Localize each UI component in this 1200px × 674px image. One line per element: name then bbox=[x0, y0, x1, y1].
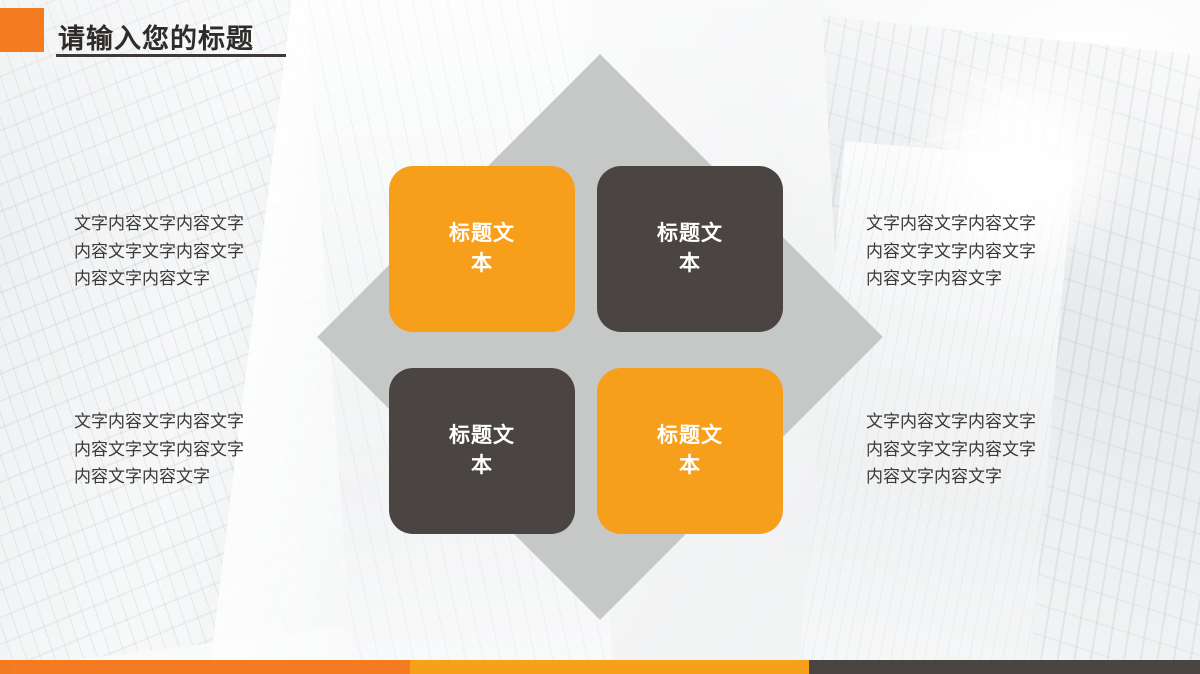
tile-group: 标题文本 标题文本 标题文本 标题文本 bbox=[389, 166, 783, 534]
footer-segment-orange bbox=[10, 660, 410, 674]
footer-bar bbox=[0, 660, 1200, 674]
tile-bottom-right[interactable]: 标题文本 bbox=[597, 368, 783, 534]
tile-top-right[interactable]: 标题文本 bbox=[597, 166, 783, 332]
slide: 请输入您的标题 标题文本 标题文本 标题文本 标题文本 文字内容文字内容文字 内… bbox=[0, 0, 1200, 674]
footer-segment-dark bbox=[809, 660, 1200, 674]
footer-segment-orange-dark bbox=[0, 660, 10, 674]
footer-segment-yellow bbox=[410, 660, 809, 674]
tile-top-left[interactable]: 标题文本 bbox=[389, 166, 575, 332]
description-right-top: 文字内容文字内容文字 内容文字文字内容文字 内容文字内容文字 bbox=[866, 210, 1036, 293]
page-title: 请输入您的标题 bbox=[58, 17, 254, 56]
description-left-bottom: 文字内容文字内容文字 内容文字文字内容文字 内容文字内容文字 bbox=[74, 408, 244, 491]
tile-bottom-left-label: 标题文本 bbox=[440, 421, 524, 482]
title-accent-block bbox=[0, 8, 44, 52]
tile-top-left-label: 标题文本 bbox=[440, 219, 524, 280]
tile-bottom-right-label: 标题文本 bbox=[648, 421, 732, 482]
tile-top-right-label: 标题文本 bbox=[648, 219, 732, 280]
description-right-bottom: 文字内容文字内容文字 内容文字文字内容文字 内容文字内容文字 bbox=[866, 408, 1036, 491]
tile-bottom-left[interactable]: 标题文本 bbox=[389, 368, 575, 534]
description-left-top: 文字内容文字内容文字 内容文字文字内容文字 内容文字内容文字 bbox=[74, 210, 244, 293]
